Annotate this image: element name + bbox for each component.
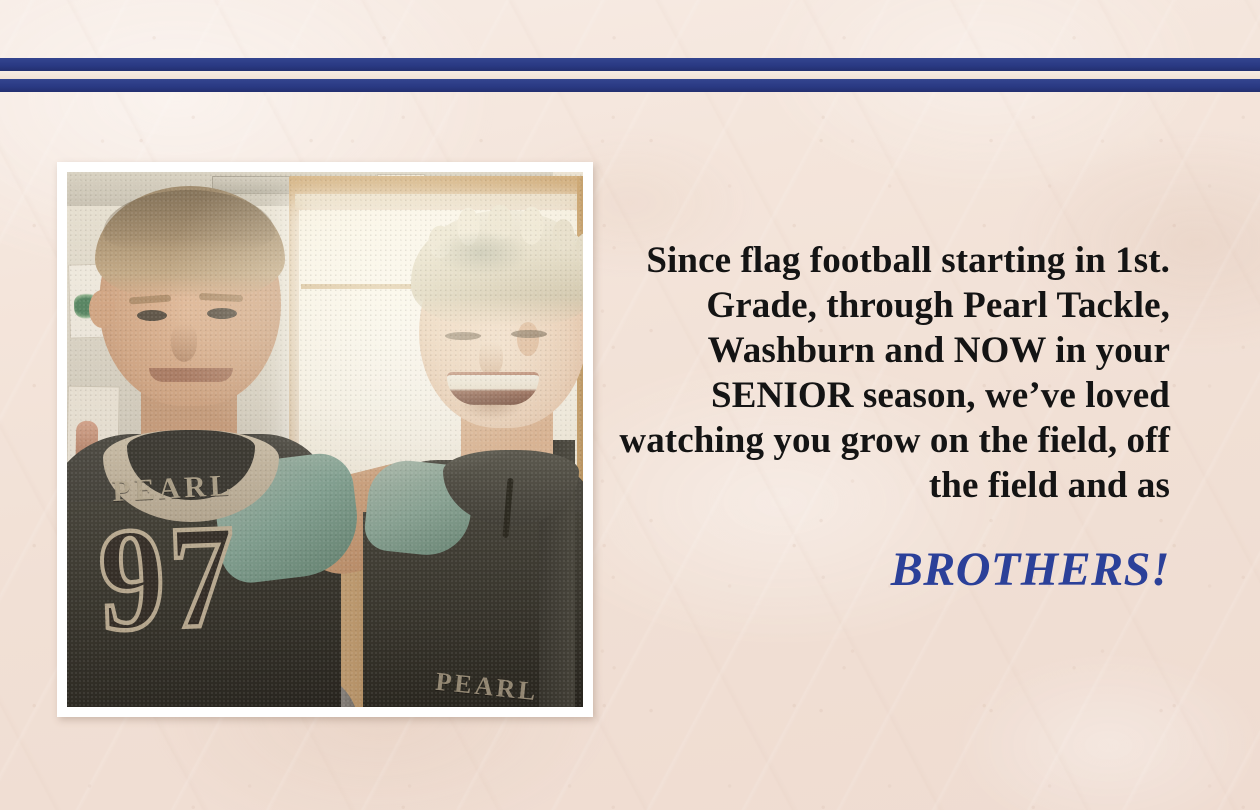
left-player-eye-right — [207, 308, 237, 319]
left-player-eye-left — [137, 310, 167, 321]
tribute-page: PEARL 97 PEARL — [0, 0, 1260, 810]
left-player-ear — [89, 290, 115, 328]
right-player-ear — [517, 322, 539, 356]
left-player-mouth — [149, 368, 233, 382]
right-player-smile — [447, 372, 539, 405]
right-player-eye-right — [511, 330, 547, 338]
decorative-stripe-band — [0, 58, 1260, 92]
decorative-stripe-top — [0, 58, 1260, 71]
decorative-stripe-gap — [0, 71, 1260, 79]
tribute-message: Since flag football starting in 1st. Gra… — [600, 238, 1170, 596]
photograph: PEARL 97 PEARL — [67, 172, 583, 707]
decorative-stripe-bottom — [0, 79, 1260, 92]
right-player-chin-shadow — [459, 404, 523, 420]
left-player-nose — [171, 324, 197, 362]
message-body-text: Since flag football starting in 1st. Gra… — [600, 238, 1170, 508]
left-jersey-number: 97 — [67, 500, 278, 655]
right-player-eye-left — [445, 332, 481, 340]
right-player-hair-shadow — [433, 230, 529, 276]
photo-scene: PEARL 97 PEARL — [67, 172, 583, 707]
photo-frame: PEARL 97 PEARL — [57, 162, 593, 717]
message-highlight-text: BROTHERS! — [600, 544, 1170, 596]
right-player-nose — [479, 342, 503, 376]
